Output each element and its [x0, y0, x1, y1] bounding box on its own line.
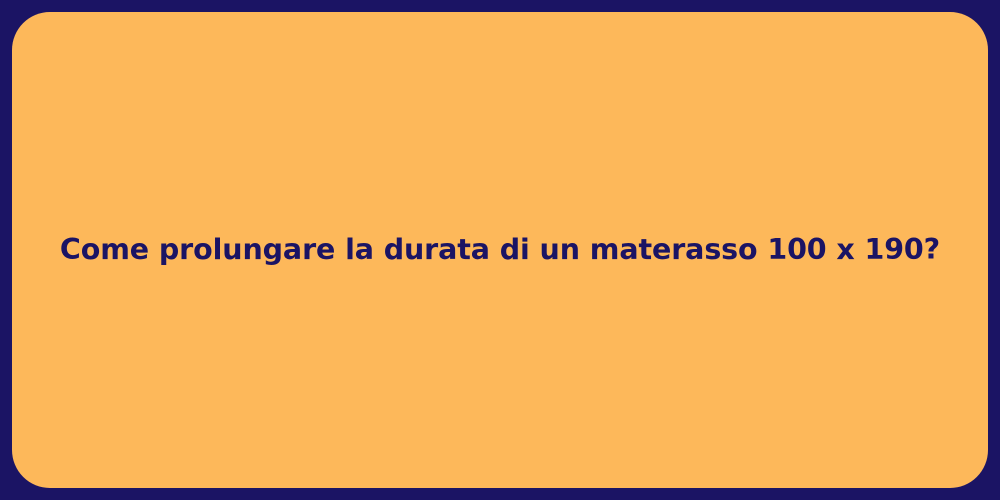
card-heading: Come prolungare la durata di un materass… [60, 232, 940, 268]
card-panel: Come prolungare la durata di un materass… [12, 12, 988, 488]
card-frame: Come prolungare la durata di un materass… [0, 0, 1000, 500]
